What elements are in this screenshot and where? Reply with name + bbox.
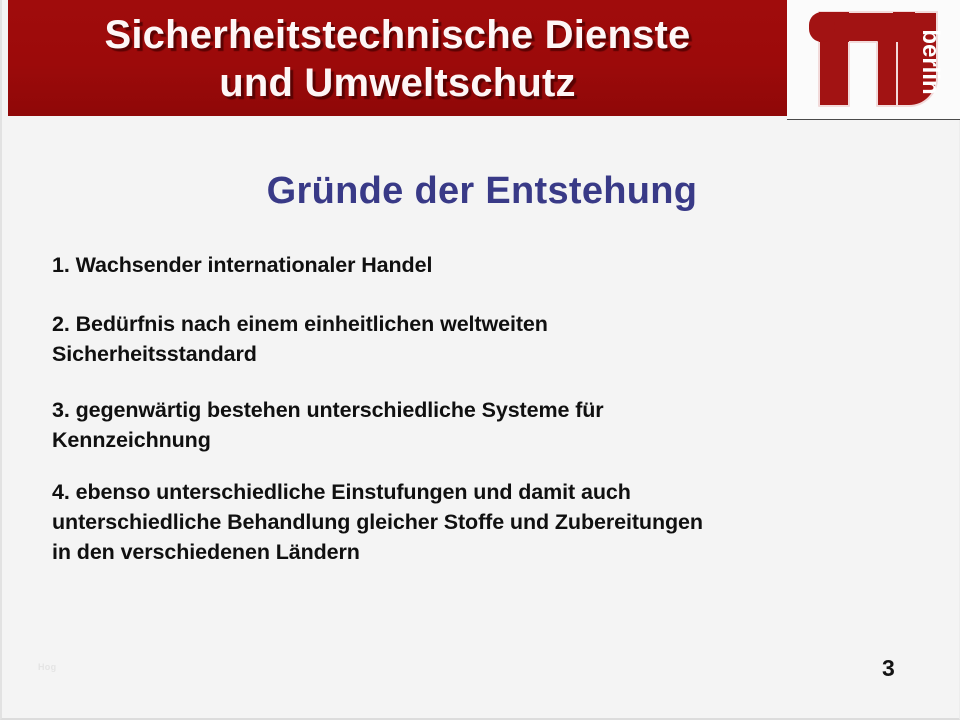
logo-t-left-round xyxy=(809,12,835,42)
header-title: Sicherheitstechnische Dienste und Umwelt… xyxy=(8,11,787,107)
list-item: 3. gegenwärtig bestehen unterschiedliche… xyxy=(52,395,932,455)
svg-text:berlin: berlin xyxy=(917,29,944,94)
list-item: 4. ebenso unterschiedliche Einstufungen … xyxy=(52,477,932,567)
spacer xyxy=(52,280,932,309)
spacer xyxy=(52,369,932,395)
list-item: 1. Wachsender internationaler Handel xyxy=(52,250,932,280)
list-item: 2. Bedürfnis nach einem einheitlichen we… xyxy=(52,309,932,369)
footer-note: Hog xyxy=(38,662,56,672)
logo-u-notch xyxy=(893,12,915,42)
tu-berlin-logo-icon: berlin xyxy=(805,6,947,112)
page-title: Gründe der Entstehung xyxy=(2,170,960,213)
logo-container: berlin xyxy=(787,0,960,120)
logo-wordmark: berlin xyxy=(917,29,944,94)
page-number: 3 xyxy=(882,655,895,682)
content-list: 1. Wachsender internationaler Handel 2. … xyxy=(52,250,932,567)
slide-canvas: Sicherheitstechnische Dienste und Umwelt… xyxy=(0,0,960,720)
header-banner: Sicherheitstechnische Dienste und Umwelt… xyxy=(8,0,787,116)
spacer xyxy=(52,455,932,477)
